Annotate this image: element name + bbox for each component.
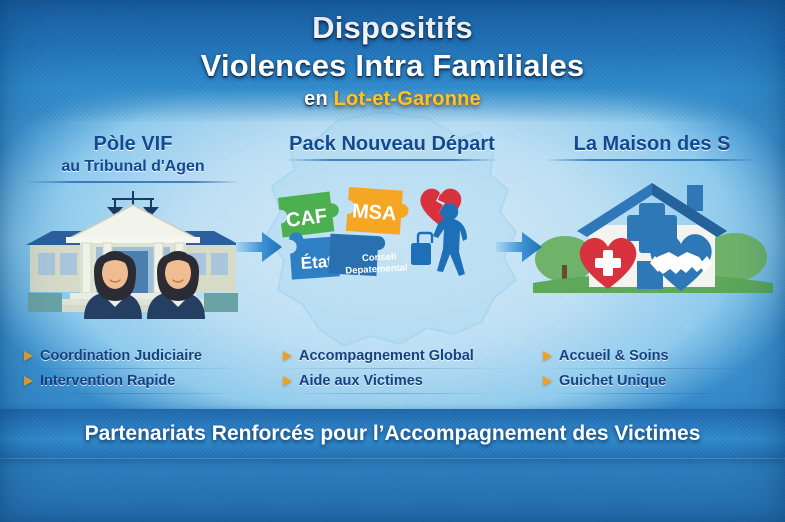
svg-text:Conseli: Conseli bbox=[362, 251, 397, 264]
house-illustration bbox=[527, 179, 777, 293]
title-line-1: Dispositifs bbox=[0, 10, 785, 46]
infographic-poster: Dispositifs Violences Intra Familiales e… bbox=[0, 0, 785, 522]
bullet-label: Coordination Judiciaire bbox=[40, 348, 202, 364]
column-1-heading: Pòle VIF au Tribunal d'Agen bbox=[8, 132, 258, 178]
puzzle-illustration: CAF MSA État Conseli Depatemental bbox=[267, 183, 517, 293]
arrow-col1-to-col2-icon bbox=[236, 230, 282, 264]
title-line-2: Violences Intra Familiales bbox=[0, 48, 785, 84]
bullet-item[interactable]: Guichet Unique bbox=[527, 369, 777, 394]
title-line-3-prefix: en bbox=[304, 88, 328, 110]
bullet-item[interactable]: Coordination Judiciaire bbox=[8, 344, 258, 369]
footer-text: Partenariats Renforcés pour l’Accompagne… bbox=[85, 422, 701, 446]
column-3-bullets: Accueil & Soins Guichet Unique bbox=[527, 344, 777, 394]
title-line-3: en Lot-et-Garonne bbox=[0, 88, 785, 111]
bullet-label: Accompagnement Global bbox=[299, 348, 474, 364]
bullet-item[interactable]: Accueil & Soins bbox=[527, 344, 777, 369]
triangle-bullet-icon bbox=[543, 376, 552, 386]
column-maison-des-s: La Maison des S bbox=[527, 132, 777, 394]
column-1-heading-line-2: au Tribunal d'Agen bbox=[8, 156, 258, 178]
bullet-item[interactable]: Accompagnement Global bbox=[267, 344, 517, 369]
column-1-divider bbox=[26, 181, 240, 183]
bullet-label: Aide aux Victimes bbox=[299, 373, 423, 389]
bullet-label: Intervention Rapide bbox=[40, 373, 175, 389]
column-3-heading-line-1: La Maison des S bbox=[527, 132, 777, 156]
column-pack-nouveau-depart: Pack Nouveau Départ CAF MSA bbox=[267, 132, 517, 394]
triangle-bullet-icon bbox=[283, 376, 292, 386]
column-1-heading-line-1: Pòle VIF bbox=[8, 132, 258, 156]
column-3-divider bbox=[545, 159, 759, 161]
column-pole-vif: Pòle VIF au Tribunal d'Agen bbox=[8, 132, 258, 394]
svg-text:Depatemental: Depatemental bbox=[345, 262, 408, 276]
svg-text:MSA: MSA bbox=[351, 200, 397, 225]
triangle-bullet-icon bbox=[283, 351, 292, 361]
triangle-bullet-icon bbox=[24, 351, 33, 361]
bullet-item[interactable]: Intervention Rapide bbox=[8, 369, 258, 394]
column-3-heading: La Maison des S bbox=[527, 132, 777, 156]
triangle-bullet-icon bbox=[24, 376, 33, 386]
bullet-item[interactable]: Aide aux Victimes bbox=[267, 369, 517, 394]
footer-banner: Partenariats Renforcés pour l’Accompagne… bbox=[0, 409, 785, 459]
title-line-3-highlight: Lot-et-Garonne bbox=[334, 88, 481, 110]
bullet-label: Guichet Unique bbox=[559, 373, 666, 389]
bullet-label: Accueil & Soins bbox=[559, 348, 669, 364]
poster-header: Dispositifs Violences Intra Familiales e… bbox=[0, 0, 785, 122]
courthouse-illustration bbox=[8, 187, 258, 319]
triangle-bullet-icon bbox=[543, 351, 552, 361]
column-2-bullets: Accompagnement Global Aide aux Victimes bbox=[267, 344, 517, 394]
column-2-heading: Pack Nouveau Départ bbox=[267, 132, 517, 156]
column-2-divider bbox=[285, 159, 499, 161]
arrow-col2-to-col3-icon bbox=[496, 230, 542, 264]
column-2-heading-line-1: Pack Nouveau Départ bbox=[267, 132, 517, 156]
column-1-bullets: Coordination Judiciaire Intervention Rap… bbox=[8, 344, 258, 394]
